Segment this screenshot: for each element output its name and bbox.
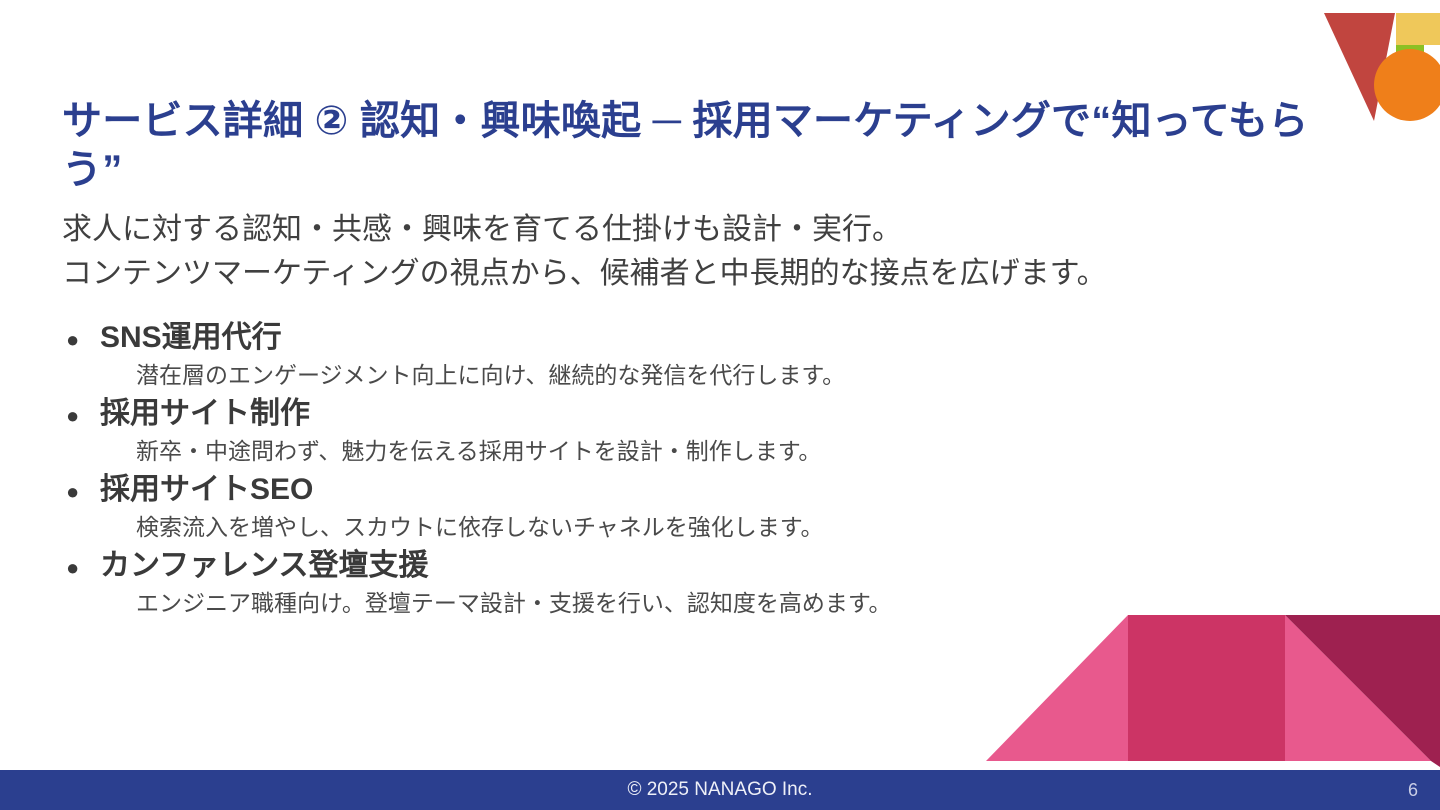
deco-crimson-block [1128,615,1285,761]
bullet-description: エンジニア職種向け。登壇テーマ設計・支援を行い、認知度を高めます。 [136,585,1396,621]
lead-line-2: コンテンツマーケティングの視点から、候補者と中長期的な接点を広げます。 [62,252,1382,296]
slide-footer: © 2025 NANAGO Inc. 6 [0,770,1440,810]
bullet-title: 採用サイト制作 [100,396,1396,433]
bullet-dot-icon: ● [56,329,100,351]
slide-title: サービス詳細 ② 認知・興味喚起 ─ 採用マーケティングで“知ってもらう” [62,97,1362,195]
footer-copyright: © 2025 NANAGO Inc. [0,770,1440,810]
slide-lead-paragraph: 求人に対する認知・共感・興味を育てる仕掛けも設計・実行。 コンテンツマーケティン… [62,208,1382,297]
slide-canvas: サービス詳細 ② 認知・興味喚起 ─ 採用マーケティングで“知ってもらう” 求人… [0,0,1440,810]
bullet-heading: ● SNS運用代行 [56,320,1396,357]
list-item: ● 採用サイトSEO 検索流入を増やし、スカウトに依存しないチャネルを強化します… [56,472,1396,544]
bullet-title: SNS運用代行 [100,320,1396,357]
bullet-heading: ● 採用サイト制作 [56,396,1396,433]
bullet-heading: ● 採用サイトSEO [56,472,1396,509]
bullet-heading: ● カンファレンス登壇支援 [56,548,1396,585]
bullet-dot-icon: ● [56,405,100,427]
list-item: ● カンファレンス登壇支援 エンジニア職種向け。登壇テーマ設計・支援を行い、認知… [56,548,1396,620]
bullet-dot-icon: ● [56,481,100,503]
logo-yellow-bar [1396,13,1440,45]
deco-pink-wedge [986,615,1128,761]
lead-line-1: 求人に対する認知・共感・興味を育てる仕掛けも設計・実行。 [62,208,1382,252]
bullet-description: 新卒・中途問わず、魅力を伝える採用サイトを設計・制作します。 [136,433,1396,469]
bullet-description: 検索流入を増やし、スカウトに依存しないチャネルを強化します。 [136,509,1396,545]
list-item: ● 採用サイト制作 新卒・中途問わず、魅力を伝える採用サイトを設計・制作します。 [56,396,1396,468]
bullet-dot-icon: ● [56,557,100,579]
page-number: 6 [1408,770,1418,810]
nanago-logo [1313,0,1440,122]
bullet-description: 潜在層のエンゲージメント向上に向け、継続的な発信を代行します。 [136,357,1396,393]
list-item: ● SNS運用代行 潜在層のエンゲージメント向上に向け、継続的な発信を代行します… [56,320,1396,392]
service-bullet-list: ● SNS運用代行 潜在層のエンゲージメント向上に向け、継続的な発信を代行します… [56,320,1396,624]
bullet-title: 採用サイトSEO [100,472,1396,509]
bullet-title: カンファレンス登壇支援 [100,548,1396,585]
